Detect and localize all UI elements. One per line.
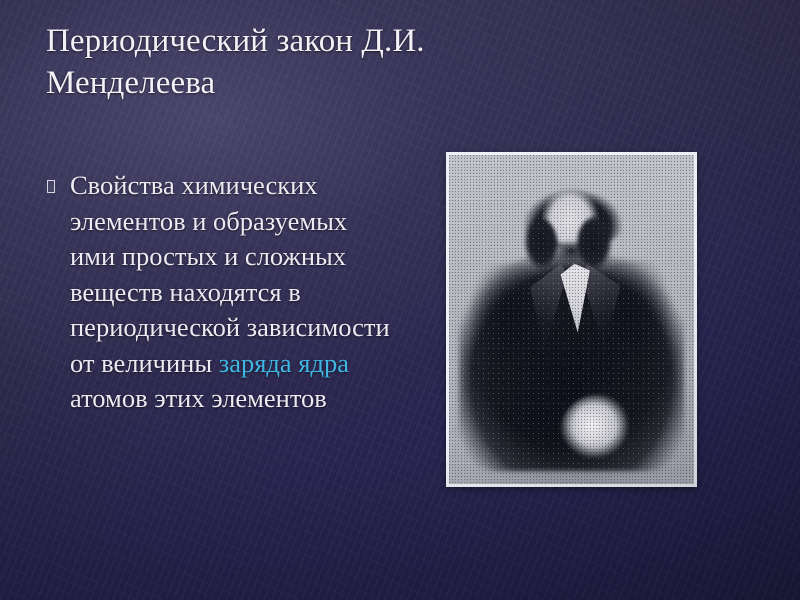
- body-text-segment-1: Свойства химических элементов и образуем…: [70, 170, 390, 378]
- body-bullet-list: Свойства химических элементов и образуем…: [44, 168, 396, 417]
- body-text: Свойства химических элементов и образуем…: [70, 170, 390, 413]
- presentation-slide: Периодический закон Д.И. Менделеева Свой…: [0, 0, 800, 600]
- body-text-accent-phrase: заряда ядра: [219, 348, 349, 378]
- body-text-segment-3: атомов этих элементов: [70, 383, 327, 413]
- list-item: Свойства химических элементов и образуем…: [44, 168, 396, 417]
- portrait-canvas: [449, 155, 694, 484]
- page-title: Периодический закон Д.И. Менделеева: [46, 20, 606, 104]
- portrait-image-mendeleev: [446, 152, 697, 487]
- bullet-marker-icon: [47, 180, 55, 193]
- portrait-halftone-grain: [449, 155, 694, 484]
